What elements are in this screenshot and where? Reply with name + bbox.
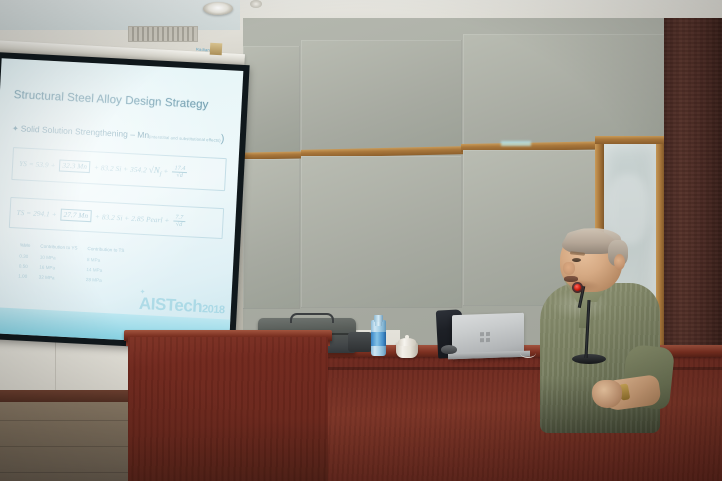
wall-panel — [243, 159, 300, 309]
eq1-lead: YS = 53.9 + — [19, 160, 56, 170]
slide-bullet-text: Solid Solution Strengthening – Mn — [20, 123, 149, 140]
eq1-mid: + 83.2 Si + 354.2 — [94, 163, 147, 174]
wall-panel — [463, 34, 669, 150]
eq1-fraction: 17.4 √d — [172, 165, 188, 179]
watermark-text: AISTech — [139, 294, 203, 316]
eq2-frac-denominator: √d — [173, 222, 185, 229]
tea-cup — [396, 336, 418, 358]
ceiling-downlight-small-icon — [250, 0, 262, 8]
bottle-cap — [374, 315, 383, 322]
trim-light-glint — [501, 141, 531, 146]
equation-box-ts: TS = 294.1 + 27.7 Mn + 83.2 Si + 2.85 Pe… — [9, 197, 224, 239]
equation-box-ys: YS = 53.9 + 32.3 Mn + 83.2 Si + 354.2 √N… — [11, 147, 226, 191]
eq1-frac-denominator: √d — [172, 172, 187, 179]
table-cell-mn: 1.00 — [18, 270, 39, 281]
microphone-base — [572, 354, 606, 364]
equation-ts: TS = 294.1 + 27.7 Mn + 83.2 Si + 2.85 Pe… — [10, 206, 185, 229]
wall-panel — [243, 46, 300, 154]
eq2-highlight-mn: 27.7 Mn — [60, 209, 91, 223]
watermark-year: 2018 — [202, 303, 225, 316]
wall-panel — [301, 156, 462, 308]
door-frame-top — [595, 136, 667, 144]
eq2-fraction: 7.7 √d — [173, 214, 186, 228]
slide-title: Structural Steel Alloy Design Strategy — [13, 89, 208, 111]
slide-content: Structural Steel Alloy Design Strategy ✦… — [0, 58, 243, 345]
presenter-ear — [614, 254, 625, 270]
bottle-label — [371, 332, 386, 346]
projected-slide: Structural Steel Alloy Design Strategy ✦… — [0, 58, 243, 345]
eq1-highlight-mn: 32.3 Mn — [59, 160, 90, 174]
presentation-photo-scene: Radiant Structural Steel Alloy Design St… — [0, 0, 722, 481]
projector-screen: Structural Steel Alloy Design Strategy ✦… — [0, 52, 250, 352]
ceiling-downlight-icon — [203, 2, 233, 15]
surface-logo-icon — [480, 332, 490, 342]
podium — [128, 337, 328, 481]
screen-mount-bracket — [210, 43, 223, 56]
water-bottle — [371, 312, 386, 356]
tea-cup-knob — [405, 335, 409, 339]
wall-panel — [301, 40, 462, 152]
presenter-eye — [572, 258, 581, 262]
slide-table: %Mn Contribution to YS Contribution to T… — [18, 243, 134, 287]
eq2-mid: + 83.2 Si + 2.85 Pearl + — [95, 213, 170, 225]
table-cell-ys: 32 MPa — [39, 272, 87, 284]
podium-wood-grain — [128, 337, 328, 481]
presenter — [520, 228, 680, 428]
bullet-marker-icon: ✦ — [12, 124, 19, 133]
table-cell-ts: 28 MPa — [86, 274, 133, 286]
bag-handle — [290, 313, 334, 323]
microphone-led-icon — [574, 284, 581, 291]
air-vent — [128, 26, 198, 42]
eq2-lead: TS = 294.1 + — [16, 208, 56, 218]
slide-bullet-line: ✦Solid Solution Strengthening – Mn(inter… — [12, 122, 225, 145]
slide-bullet-paren: ) — [220, 133, 224, 145]
equation-ys: YS = 53.9 + 32.3 Mn + 83.2 Si + 354.2 √N… — [13, 157, 188, 180]
slide-bullet-subnote: (interstitial and substitutional effects… — [149, 134, 221, 143]
eq1-radical: √N — [148, 164, 160, 175]
eq1-plus: + — [163, 167, 168, 175]
tea-cup-lid — [398, 338, 416, 346]
bag-side-pocket — [348, 332, 372, 352]
computer-mouse — [441, 345, 457, 354]
presenter-nose — [563, 262, 575, 275]
presenter-hand — [592, 380, 622, 408]
eq1-subscript: f — [160, 171, 162, 177]
